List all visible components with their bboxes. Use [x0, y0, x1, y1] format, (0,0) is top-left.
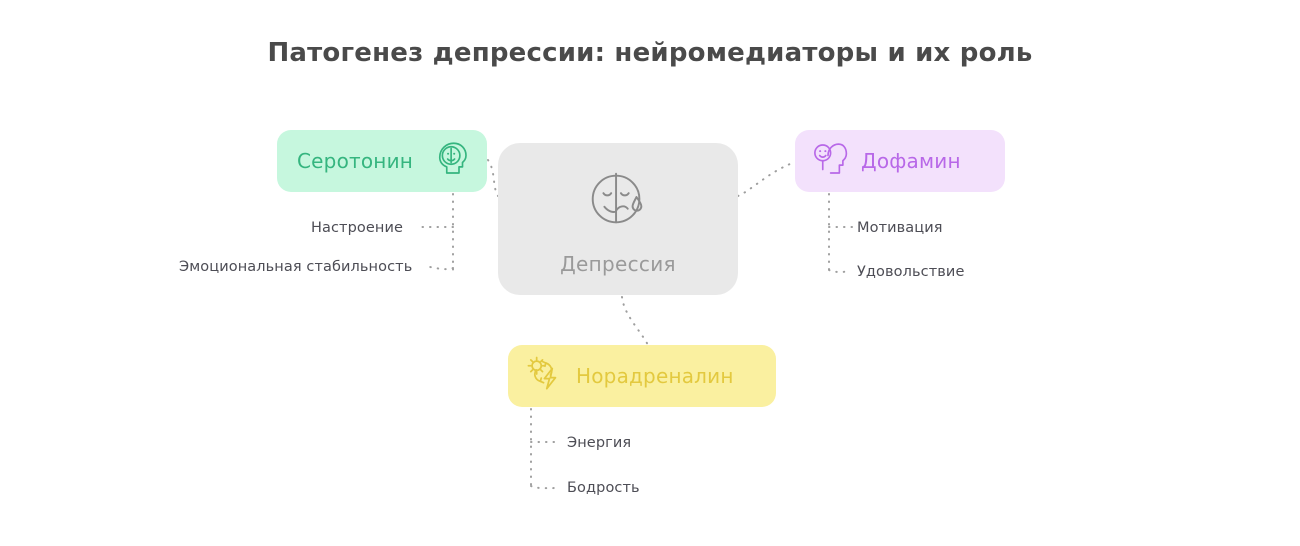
- head-brain-face-icon: [431, 138, 473, 184]
- sun-lightning-cycle-icon: [522, 352, 566, 400]
- node-noradrenaline-label: Норадреналин: [576, 366, 734, 386]
- node-serotonin-label: Серотонин: [297, 151, 413, 171]
- split-face-sad-happy-icon: [583, 164, 653, 238]
- node-depression-center[interactable]: Депрессия: [498, 143, 738, 295]
- connector-dopamine-branch-pleasure: [829, 270, 851, 272]
- head-smiley-balloon-icon: [807, 138, 849, 184]
- node-depression-label: Депрессия: [560, 254, 676, 274]
- sublabel-vigor: Бодрость: [567, 481, 640, 496]
- node-dopamine[interactable]: Дофамин: [795, 130, 1005, 192]
- sublabel-pleasure: Удовольствие: [857, 265, 964, 280]
- node-dopamine-label: Дофамин: [861, 151, 961, 171]
- node-serotonin[interactable]: Серотонин: [277, 130, 487, 192]
- sublabel-emotional-stability: Эмоциональная стабильность: [179, 260, 412, 275]
- node-noradrenaline[interactable]: Норадреналин: [508, 345, 776, 407]
- connector-noradrenaline-branch-vigor: [531, 486, 560, 488]
- connector-center-to-noradrenaline: [622, 297, 648, 345]
- sublabel-energy: Энергия: [567, 436, 631, 451]
- connector-serotonin-branch-emotional: [430, 267, 453, 269]
- sublabel-mood: Настроение: [311, 221, 403, 236]
- connector-serotonin-to-center: [488, 160, 498, 196]
- connector-center-to-dopamine: [738, 162, 795, 196]
- page-title: Патогенез депрессии: нейромедиаторы и их…: [0, 38, 1300, 68]
- diagram-canvas: Патогенез депрессии: нейромедиаторы и их…: [0, 0, 1300, 546]
- sublabel-motivation: Мотивация: [857, 221, 943, 236]
